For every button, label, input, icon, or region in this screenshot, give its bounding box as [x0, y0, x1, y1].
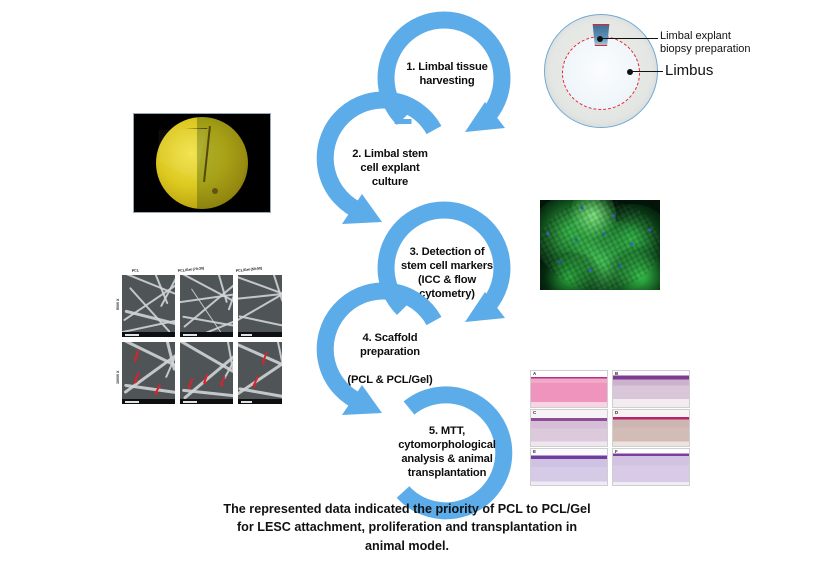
- microscope-photo-limbal-harvesting: [133, 113, 271, 213]
- process-flow-chain: 1. Limbal tissue harvesting 2. Limbal st…: [318, 0, 542, 500]
- histology-tag-f: F: [615, 449, 618, 454]
- histology-tag-c: C: [533, 410, 536, 415]
- biopsy-label: Limbal explant biopsy preparation: [660, 30, 810, 57]
- histology-panel-b: B: [612, 370, 690, 408]
- sem-red-arrow: [134, 350, 139, 361]
- histology-tag-d: D: [615, 410, 618, 415]
- caption-line-2: for LESC attachment, proliferation and t…: [90, 518, 724, 536]
- biopsy-leader-line: [600, 38, 658, 39]
- sem-row-header-10000x: 10000 X: [116, 371, 120, 384]
- caption-line-1: The represented data indicated the prior…: [90, 500, 724, 518]
- figure-canvas: 1. Limbal tissue harvesting 2. Limbal st…: [0, 0, 814, 569]
- histology-panel-e: E: [530, 448, 608, 486]
- eye-limbus-diagram: Limbal explant biopsy preparation Limbus: [530, 6, 814, 134]
- immunocytochemistry-fluorescence-image: [540, 200, 660, 290]
- limbus-leader-line: [630, 71, 663, 72]
- sem-row-header-5000x: 5000 X: [116, 299, 120, 310]
- sem-cell-pcl-10000x: [122, 342, 175, 404]
- sem-cell-pclgel5050-10000x: [238, 342, 282, 404]
- tissue-spot: [212, 188, 218, 194]
- caption-line-3: animal model.: [90, 537, 724, 555]
- sem-column-header-pclgel5050: PCL/Gel (50:50): [236, 266, 263, 273]
- flow-step-1-label: 1. Limbal tissue harvesting: [385, 60, 509, 88]
- histology-panel-c: C: [530, 409, 608, 447]
- histology-tag-a: A: [533, 371, 536, 376]
- figure-caption: The represented data indicated the prior…: [90, 500, 724, 555]
- sem-scaffold-panel: PCL PCL/Gel (70:30) PCL/Gel (50:50) 5000…: [110, 262, 286, 414]
- histology-panel-d: D: [612, 409, 690, 447]
- flow-step-5-label: 5. MTT, cytomorphological analysis & ani…: [385, 424, 509, 480]
- histology-tag-b: B: [615, 371, 618, 376]
- sem-cell-pclgel7030-5000x: [180, 275, 233, 337]
- sem-cell-pclgel7030-10000x: [180, 342, 233, 404]
- limbus-label: Limbus: [665, 62, 713, 80]
- histology-panel-f: F: [612, 448, 690, 486]
- histology-panel: A B C D E F: [528, 368, 690, 486]
- sem-cell-pcl-5000x: [122, 275, 175, 337]
- histology-panel-a: A: [530, 370, 608, 408]
- sem-cell-pclgel5050-5000x: [238, 275, 282, 337]
- sem-red-arrow: [188, 378, 194, 388]
- histology-tag-e: E: [533, 449, 536, 454]
- flow-step-2-label: 2. Limbal stem cell explant culture: [328, 147, 452, 189]
- sem-column-header-pclgel7030: PCL/Gel (70:30): [178, 266, 205, 273]
- sem-red-arrow: [220, 376, 226, 386]
- sem-column-header-pcl: PCL: [132, 268, 140, 273]
